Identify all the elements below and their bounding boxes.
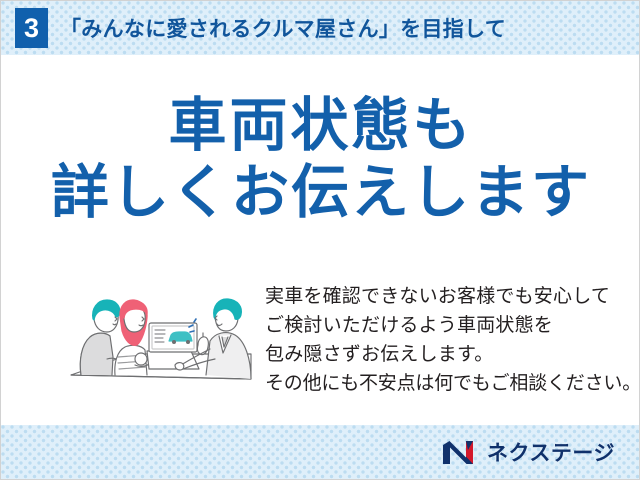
body-copy: 実車を確認できないお客様でも安心して ご検討いただけるよう車両状態を 包み隠さず… (265, 283, 615, 399)
body-copy-line-1: 実車を確認できないお客様でも安心して (265, 283, 615, 312)
step-number-badge: 3 (15, 8, 48, 48)
footer-band: ネクステージ (1, 425, 640, 479)
headline: 車両状態も 詳しくお伝えします (1, 96, 640, 222)
header-content: 3 「みんなに愛されるクルマ屋さん」を目指して (1, 1, 640, 55)
body-copy-line-3: 包み隠さずお伝えします。 (265, 341, 615, 370)
header-title: 「みんなに愛されるクルマ屋さん」を目指して (60, 13, 506, 43)
nextage-n-logo-icon (442, 440, 480, 465)
brand-logo: ネクステージ (442, 437, 615, 467)
body-copy-line-2: ご検討いただけるよう車両状態を (265, 312, 615, 341)
consultation-illustration (63, 279, 259, 394)
headline-line-1: 車両状態も (1, 96, 640, 155)
header-band: 3 「みんなに愛されるクルマ屋さん」を目指して (1, 1, 640, 55)
headline-line-2: 詳しくお伝えします (1, 163, 640, 222)
body-copy-line-4: その他にも不安点は何でもご相談ください。 (265, 370, 615, 399)
brand-wordmark: ネクステージ (487, 437, 615, 467)
illustration-svg (63, 279, 259, 394)
advertisement-banner: 3 「みんなに愛されるクルマ屋さん」を目指して 車両状態も 詳しくお伝えします (0, 0, 640, 480)
